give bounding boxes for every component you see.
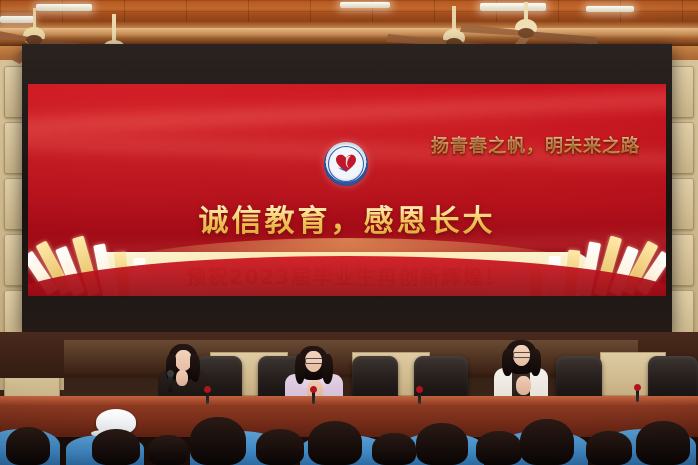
audience-head (586, 431, 632, 465)
auditorium-scene: 扬青春之帆，明未来之路 诚信教育，感恩长大 预祝2023届毕业生再创新辉煌！ (0, 0, 698, 465)
stage-back-glow (64, 340, 638, 374)
led-screen-content: 扬青春之帆，明未来之路 诚信教育，感恩长大 预祝2023届毕业生再创新辉煌！ (28, 84, 666, 296)
audience-head (308, 421, 362, 465)
audience-head (190, 417, 246, 465)
audience-head (476, 431, 522, 465)
audience-head (372, 433, 416, 465)
speaker-right-hands (516, 376, 531, 395)
screen-tagline: 扬青春之帆，明未来之路 (431, 132, 640, 158)
audience-head (92, 429, 140, 465)
led-screen-frame: 扬青春之帆，明未来之路 诚信教育，感恩长大 预祝2023届毕业生再创新辉煌！ (22, 44, 672, 334)
audience-rows (0, 398, 698, 465)
audience-head (256, 429, 304, 465)
school-emblem-icon (324, 142, 368, 186)
audience-head (636, 421, 690, 465)
audience-head (148, 435, 188, 465)
audience-head (416, 423, 468, 465)
speaker-left-hand (176, 370, 188, 386)
audience-head (6, 427, 50, 465)
audience-head (520, 419, 574, 465)
emblem-heart-icon (335, 153, 357, 173)
screen-decoration-sails (28, 218, 666, 296)
